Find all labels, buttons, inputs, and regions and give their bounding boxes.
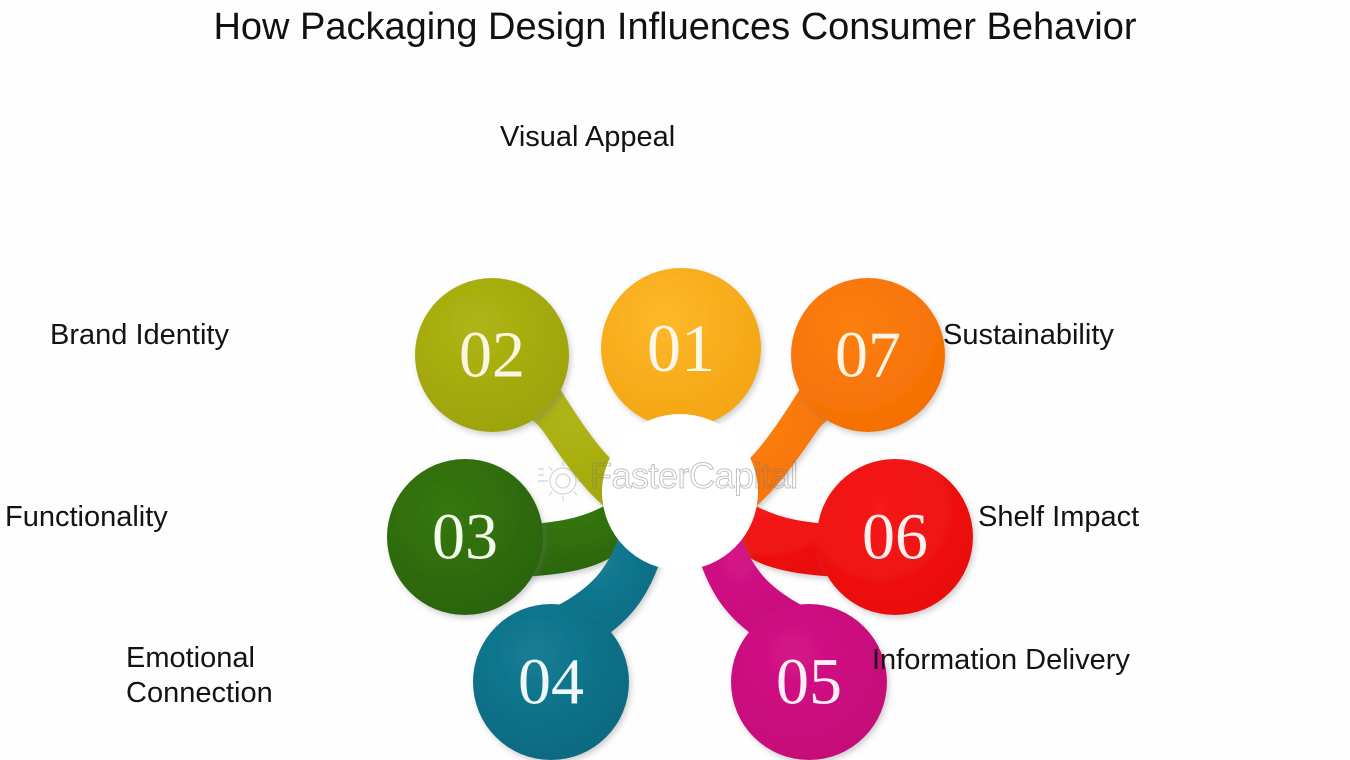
petal-06-number: 06 [862, 501, 928, 574]
petal-01-number: 01 [647, 310, 715, 386]
petal-02-number: 02 [459, 319, 525, 392]
page-title: How Packaging Design Influences Consumer… [0, 6, 1350, 49]
petal-03-number: 03 [432, 501, 498, 574]
petal-05-number: 05 [776, 646, 842, 719]
label-information-delivery: Information Delivery [872, 643, 1130, 678]
petal-07-number: 07 [835, 319, 901, 392]
center-hub [602, 414, 758, 570]
label-emotional-connection: Emotional Connection [126, 641, 273, 712]
label-functionality: Functionality [5, 500, 168, 535]
infographic-canvas: How Packaging Design Influences Consumer… [0, 0, 1350, 759]
petal-04-number: 04 [518, 646, 584, 719]
label-shelf-impact: Shelf Impact [978, 500, 1139, 535]
label-brand-identity: Brand Identity [50, 318, 229, 353]
label-visual-appeal: Visual Appeal [500, 120, 675, 155]
label-sustainability: Sustainability [943, 318, 1114, 353]
